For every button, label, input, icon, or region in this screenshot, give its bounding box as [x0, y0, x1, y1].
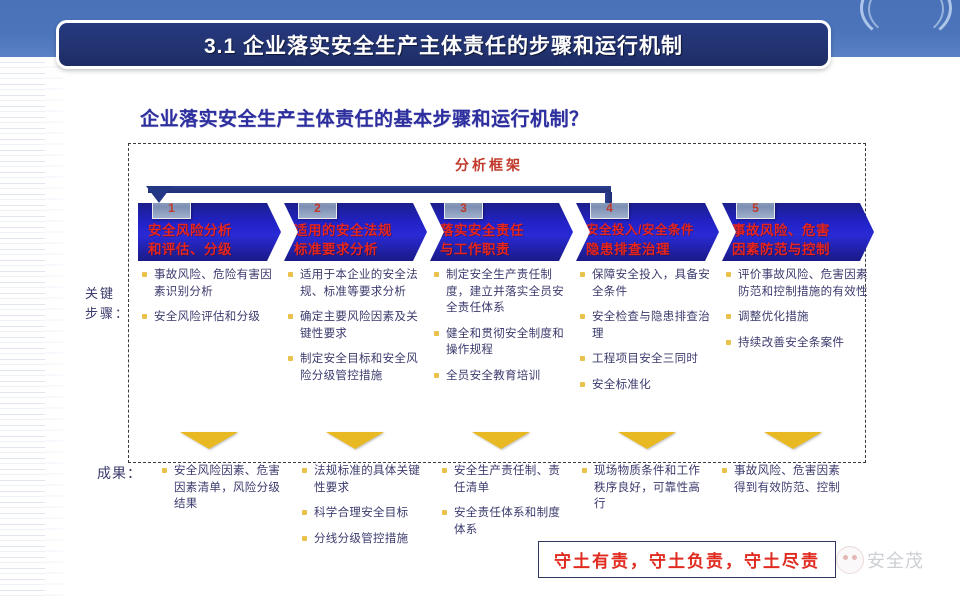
down-arrow-icon-1: [180, 432, 238, 449]
list-item: 安全风险评估和分级: [140, 308, 278, 325]
step-title-3-line1: 落实安全责任: [440, 221, 568, 240]
step-detail-columns: 事故风险、危险有害因素识别分析 安全风险评估和分级 适用于本企业的安全法规、标准…: [138, 266, 868, 424]
step-detail-column-1: 事故风险、危险有害因素识别分析 安全风险评估和分级: [140, 266, 278, 334]
step-chevron-5[interactable]: 5 事故风险、危害 因素防范与控制: [722, 203, 874, 261]
step-title-1-line1: 安全风险分析: [148, 221, 276, 240]
list-item: 法规标准的具体关键性要求: [300, 462, 422, 495]
step-chevron-2[interactable]: 2 适用的安全法规 标准要求分析: [284, 203, 427, 261]
step-title-5: 事故风险、危害 因素防范与控制: [732, 221, 868, 259]
step-title-1-line2: 和评估、分级: [148, 240, 276, 259]
list-item: 科学合理安全目标: [300, 504, 422, 521]
left-stripe-texture: [0, 57, 45, 601]
list-item: 适用于本企业的安全法规、标准等要求分析: [286, 266, 424, 299]
list-item: 持续改善安全条案件: [724, 334, 870, 351]
list-item: 工程项目安全三同时: [578, 350, 716, 367]
step-detail-column-5: 评价事故风险、危害因素防范和控制措施的有效性 调整优化措施 持续改善安全条案件: [724, 266, 870, 359]
outcome-column-4: 现场物质条件和工作秩序良好，可靠性高行: [580, 462, 702, 521]
list-item: 分线分级管控措施: [300, 530, 422, 547]
outcome-column-1: 安全风险因素、危害因素清单，风险分级结果: [160, 462, 282, 521]
list-item: 全员安全教育培训: [432, 367, 570, 384]
list-item: 保障安全投入，具备安全条件: [578, 266, 716, 299]
step-title-4-line1: 安全投入/安全条件: [586, 221, 714, 240]
list-item: 安全生产责任制、责任清单: [440, 462, 562, 495]
list-item: 评价事故风险、危害因素防范和控制措施的有效性: [724, 266, 870, 299]
gold-arrow-row: [138, 432, 868, 452]
step-title-1: 安全风险分析 和评估、分级: [148, 221, 276, 259]
list-item: 安全风险因素、危害因素清单，风险分级结果: [160, 462, 282, 512]
step-title-5-line1: 事故风险、危害: [732, 221, 868, 240]
step-title-4: 安全投入/安全条件 隐患排查治理: [586, 221, 714, 259]
list-item: 健全和贯彻安全制度和操作规程: [432, 325, 570, 358]
step-title-2-line1: 适用的安全法规: [294, 221, 422, 240]
step-title-3-line2: 与工作职责: [440, 240, 568, 259]
step-chevron-1[interactable]: 1 安全风险分析 和评估、分级: [138, 203, 281, 261]
step-title-3: 落实安全责任 与工作职责: [440, 221, 568, 259]
slide-title-bar: 3.1 企业落实安全生产主体责任的步骤和运行机制: [56, 20, 831, 69]
list-item: 确定主要风险因素及关键性要求: [286, 308, 424, 341]
list-item: 制定安全生产责任制度，建立并落实全员安全责任体系: [432, 266, 570, 316]
list-item: 事故风险、危险有害因素识别分析: [140, 266, 278, 299]
slide-canvas: 3.1 企业落实安全生产主体责任的步骤和运行机制 企业落实安全生产主体责任的基本…: [0, 0, 960, 601]
watermark-text: 安全茂: [867, 547, 924, 573]
page-title: 3.1 企业落实安全生产主体责任的步骤和运行机制: [204, 30, 683, 60]
connector-arrow-tip-icon: [146, 186, 172, 203]
step-title-4-line2: 隐患排查治理: [586, 240, 714, 259]
left-stripe-texture-secondary: [45, 57, 63, 601]
step-chevron-4[interactable]: 4 安全投入/安全条件 隐患排查治理: [576, 203, 719, 261]
outcome-column-3: 安全生产责任制、责任清单 安全责任体系和制度体系: [440, 462, 562, 546]
list-item: 制定安全目标和安全风险分级管控措施: [286, 350, 424, 383]
step-title-2: 适用的安全法规 标准要求分析: [294, 221, 422, 259]
slogan-box: 守土有责，守土负责，守土尽责: [538, 541, 836, 578]
watermark-logo-icon: [836, 546, 864, 574]
down-arrow-icon-5: [764, 432, 822, 449]
step-chevron-3[interactable]: 3 落实安全责任 与工作职责: [430, 203, 573, 261]
step-title-2-line2: 标准要求分析: [294, 240, 422, 259]
list-item: 事故风险、危害因素得到有效防范、控制: [720, 462, 842, 495]
list-item: 现场物质条件和工作秩序良好，可靠性高行: [580, 462, 702, 512]
step-detail-column-4: 保障安全投入，具备安全条件 安全检查与隐患排查治理 工程项目安全三同时 安全标准…: [578, 266, 716, 401]
step-detail-column-2: 适用于本企业的安全法规、标准等要求分析 确定主要风险因素及关键性要求 制定安全目…: [286, 266, 424, 392]
step-title-5-line2: 因素防范与控制: [732, 240, 868, 259]
list-item: 安全标准化: [578, 376, 716, 393]
down-arrow-icon-3: [472, 432, 530, 449]
watermark: 安全茂: [836, 545, 924, 575]
step-chevron-row: 1 安全风险分析 和评估、分级 2 适用的安全法规 标准要求分析 3 落实安全责…: [138, 203, 860, 261]
outcome-column-5: 事故风险、危害因素得到有效防范、控制: [720, 462, 842, 504]
list-item: 安全检查与隐患排查治理: [578, 308, 716, 341]
connector-horizontal-bar: [148, 186, 611, 193]
step-detail-column-3: 制定安全生产责任制度，建立并落实全员安全责任体系 健全和贯彻安全制度和操作规程 …: [432, 266, 570, 392]
slogan-text: 守土有责，守土负责，守土尽责: [554, 547, 820, 572]
list-item: 调整优化措施: [724, 308, 870, 325]
outcome-label: 成果：: [97, 463, 142, 483]
down-arrow-icon-4: [618, 432, 676, 449]
slide-subtitle: 企业落实安全生产主体责任的基本步骤和运行机制？: [140, 104, 589, 131]
down-arrow-icon-2: [326, 432, 384, 449]
framework-label: 分析框架: [455, 155, 523, 175]
list-item: 安全责任体系和制度体系: [440, 504, 562, 537]
outcome-column-2: 法规标准的具体关键性要求 科学合理安全目标 分线分级管控措施: [300, 462, 422, 555]
